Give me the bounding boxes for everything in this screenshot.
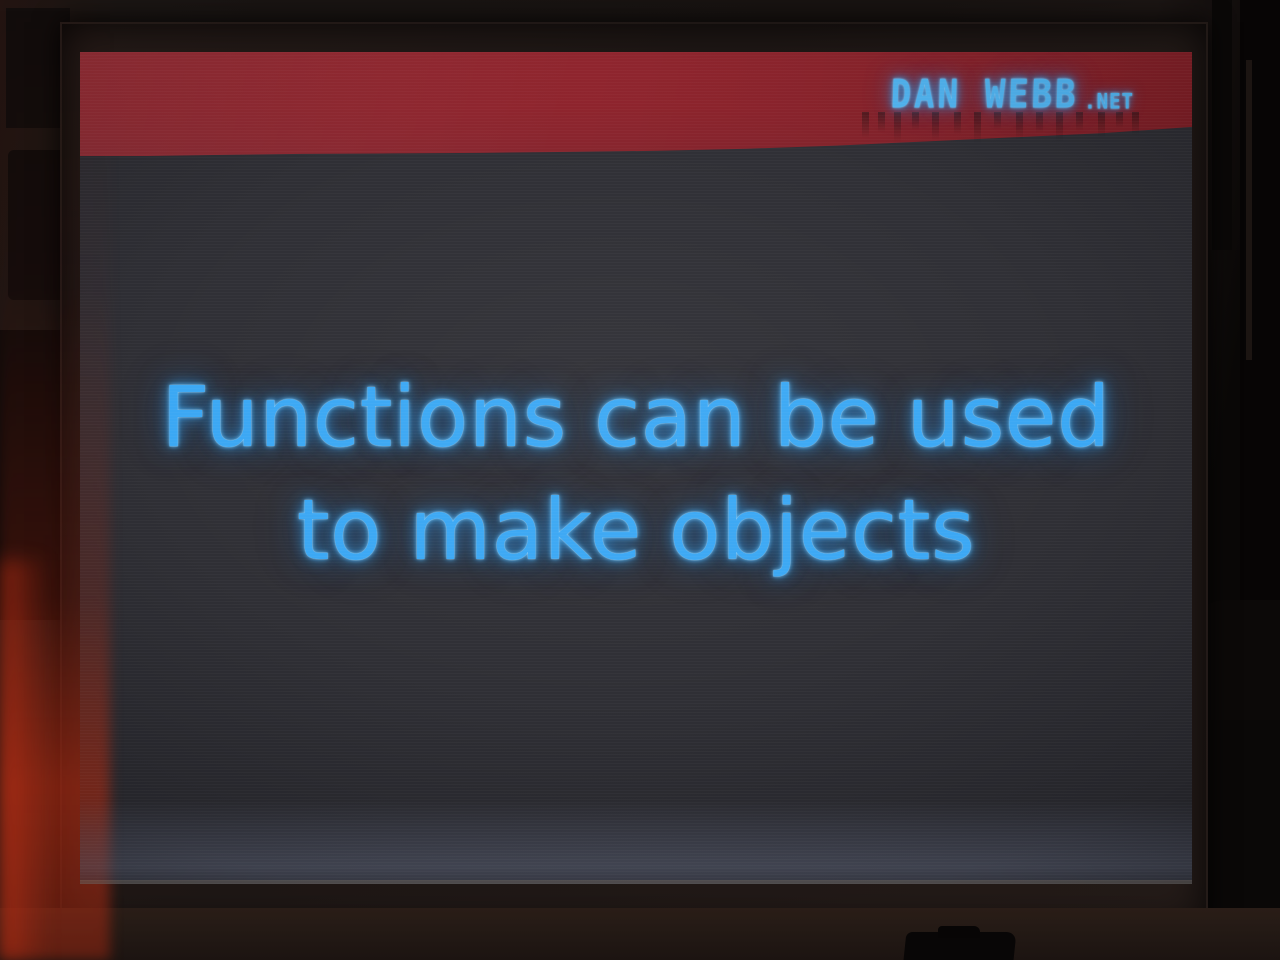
slide-headline-line-1: Functions can be used [161, 368, 1111, 467]
projection-screen: DAN WEBB .NET Functions can be used to m… [80, 52, 1192, 884]
slide-body: Functions can be used to make objects [80, 156, 1192, 884]
wall-object-upper-right [1212, 0, 1232, 250]
ledge-silhouette-object-top [938, 926, 980, 938]
site-logo[interactable]: DAN WEBB .NET [890, 78, 1134, 118]
screen-bottom-edge-highlight [80, 880, 1192, 884]
photo-scene: DAN WEBB .NET Functions can be used to m… [0, 0, 1280, 960]
lower-ledge [0, 908, 1280, 960]
logo-name-text: DAN WEBB [890, 72, 1079, 118]
wall-frame-strip-right [1246, 60, 1252, 360]
slide-headline-line-2: to make objects [297, 481, 975, 580]
wall-object-mid-left [8, 150, 66, 300]
logo-tld-text: .NET [1084, 89, 1134, 114]
